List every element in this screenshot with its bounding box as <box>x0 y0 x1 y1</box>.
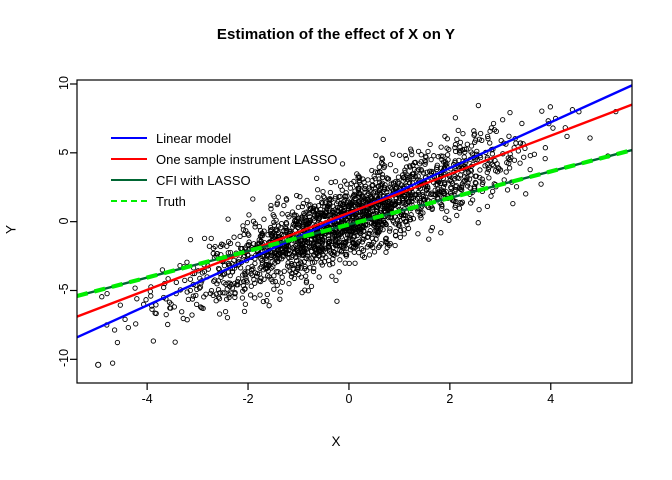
legend-line-icon <box>111 137 147 139</box>
scatter-point <box>367 253 371 257</box>
scatter-point <box>240 296 244 300</box>
scatter-point <box>280 212 284 216</box>
scatter-point <box>225 287 229 291</box>
scatter-point <box>115 340 119 344</box>
scatter-point <box>327 258 331 262</box>
scatter-point <box>548 105 552 109</box>
legend-item: CFI with LASSO <box>108 170 337 191</box>
scatter-point <box>232 235 236 239</box>
scatter-point <box>453 116 457 120</box>
scatter-point <box>543 156 547 160</box>
scatter-point <box>123 317 127 321</box>
scatter-point <box>455 213 459 217</box>
scatter-point <box>348 186 352 190</box>
scatter-point <box>588 136 592 140</box>
scatter-point <box>507 134 511 138</box>
scatter-point <box>134 322 138 326</box>
scatter-point <box>381 137 385 141</box>
scatter-point <box>317 275 321 279</box>
scatter-point <box>278 297 282 301</box>
y-axis-title: Y <box>4 200 19 260</box>
scatter-point <box>214 299 218 303</box>
scatter-point <box>505 188 509 192</box>
scatter-point <box>391 152 395 156</box>
y-tick-label: 5 <box>57 122 71 182</box>
scatter-point <box>388 162 392 166</box>
scatter-point <box>490 152 494 156</box>
scatter-point <box>353 261 357 265</box>
scatter-point <box>426 149 430 153</box>
scatter-point <box>457 206 461 210</box>
scatter-point <box>520 121 524 125</box>
scatter-point <box>539 182 543 186</box>
scatter-point <box>225 244 229 248</box>
scatter-point <box>151 339 155 343</box>
scatter-point <box>514 185 518 189</box>
scatter-point <box>458 140 462 144</box>
legend-swatch-4 <box>108 191 150 212</box>
scatter-point <box>469 144 473 148</box>
x-tick-label: -4 <box>117 392 177 406</box>
scatter-point <box>258 293 262 297</box>
scatter-point <box>372 250 376 254</box>
scatter-point <box>238 234 242 238</box>
scatter-point <box>190 313 194 317</box>
scatter-point <box>357 250 361 254</box>
scatter-point <box>445 153 449 157</box>
scatter-point <box>133 286 137 290</box>
scatter-point <box>304 274 308 278</box>
scatter-point <box>280 280 284 284</box>
scatter-point <box>508 110 512 114</box>
scatter-point <box>445 209 449 213</box>
x-tick-label: 4 <box>521 392 581 406</box>
scatter-point <box>462 155 466 159</box>
scatter-point <box>522 155 526 159</box>
legend-line-icon <box>111 200 147 202</box>
legend-item: Truth <box>108 191 337 212</box>
legend-label: Linear model <box>150 131 231 146</box>
scatter-point <box>185 318 189 322</box>
scatter-point <box>478 131 482 135</box>
scatter-point <box>253 296 257 300</box>
scatter-point <box>262 217 266 221</box>
scatter-point <box>374 153 378 157</box>
y-tick-label: 10 <box>57 53 71 113</box>
scatter-point <box>144 298 148 302</box>
scatter-point <box>490 189 494 193</box>
scatter-point <box>105 291 109 295</box>
scatter-point <box>485 204 489 208</box>
scatter-point <box>188 237 192 241</box>
legend-line-icon <box>111 179 147 181</box>
scatter-point <box>265 292 269 296</box>
scatter-point <box>511 201 515 205</box>
y-tick-label: 0 <box>57 191 71 251</box>
scatter-point <box>247 213 251 217</box>
scatter-point <box>528 167 532 171</box>
scatter-point <box>461 131 465 135</box>
scatter-point <box>478 168 482 172</box>
scatter-point <box>447 218 451 222</box>
scatter-point <box>476 220 480 224</box>
scatter-point <box>393 243 397 247</box>
scatter-point <box>183 278 187 282</box>
scatter-point <box>502 178 506 182</box>
scatter-point <box>173 340 177 344</box>
scatter-point <box>272 274 276 278</box>
scatter-point <box>300 290 304 294</box>
scatter-point <box>416 232 420 236</box>
scatter-point <box>243 302 247 306</box>
scatter-point <box>185 260 189 264</box>
scatter-point <box>242 309 246 313</box>
x-tick-label: 0 <box>319 392 379 406</box>
scatter-point <box>514 141 518 145</box>
scatter-point <box>477 207 481 211</box>
scatter-point <box>518 161 522 165</box>
scatter-point <box>524 192 528 196</box>
scatter-point <box>456 128 460 132</box>
scatter-point <box>100 295 104 299</box>
legend-label: One sample instrument LASSO <box>150 152 337 167</box>
x-tick-label: -2 <box>218 392 278 406</box>
scatter-point <box>540 109 544 113</box>
scatter-point <box>247 233 251 237</box>
x-tick-label: 2 <box>420 392 480 406</box>
scatter-point <box>278 290 282 294</box>
plot-area <box>0 0 672 480</box>
scatter-point <box>377 165 381 169</box>
scatter-point <box>499 138 503 142</box>
scatter-point <box>209 288 213 292</box>
scatter-point <box>340 162 344 166</box>
legend-item: Linear model <box>108 128 337 149</box>
scatter-point <box>202 236 206 240</box>
legend-label: CFI with LASSO <box>150 173 251 188</box>
scatter-point <box>217 312 221 316</box>
legend-swatch-1 <box>108 128 150 149</box>
scatter-point <box>532 152 536 156</box>
scatter-point <box>238 266 242 270</box>
scatter-point <box>543 145 547 149</box>
scatter-point <box>212 279 216 283</box>
scatter-point <box>337 270 341 274</box>
scatter-point <box>149 294 153 298</box>
scatter-point <box>180 310 184 314</box>
scatter-point <box>397 153 401 157</box>
scatter-point <box>330 274 334 278</box>
scatter-point <box>241 255 245 259</box>
scatter-point <box>366 178 370 182</box>
scatter-point <box>507 166 511 170</box>
scatter-point <box>565 134 569 138</box>
scatter-point <box>280 275 284 279</box>
scatter-point <box>394 169 398 173</box>
scatter-point <box>334 278 338 282</box>
scatter-point <box>309 284 313 288</box>
scatter-point <box>396 175 400 179</box>
scatter-point <box>475 149 479 153</box>
scatter-point <box>500 118 504 122</box>
scatter-point <box>267 303 271 307</box>
scatter-point <box>488 141 492 145</box>
scatter-point <box>225 315 229 319</box>
scatter-point <box>236 242 240 246</box>
scatter-point <box>275 283 279 287</box>
scatter-point <box>226 217 230 221</box>
scatter-point <box>465 142 469 146</box>
scatter-point <box>194 302 198 306</box>
scatter-point <box>439 231 443 235</box>
scatter-point <box>299 275 303 279</box>
legend-item: One sample instrument LASSO <box>108 149 337 170</box>
scatter-point <box>335 299 339 303</box>
legend-swatch-2 <box>108 149 150 170</box>
scatter-point <box>164 312 168 316</box>
scatter-point <box>209 236 213 240</box>
scatter-point <box>551 126 555 130</box>
y-tick-label: -10 <box>57 328 71 388</box>
scatter-point <box>165 322 169 326</box>
scatter-point <box>427 237 431 241</box>
scatter-point <box>110 361 114 365</box>
x-axis-title: X <box>0 434 672 449</box>
scatter-point <box>223 309 227 313</box>
scatter-point <box>253 261 257 265</box>
scatter-point-outlier <box>96 362 101 367</box>
scatter-point <box>248 293 252 297</box>
chart-legend: Linear modelOne sample instrument LASSOC… <box>108 128 337 212</box>
scatter-point <box>489 194 493 198</box>
scatter-point <box>287 281 291 285</box>
scatter-point <box>439 145 443 149</box>
scatter-point <box>485 170 489 174</box>
chart-canvas: Estimation of the effect of X on Y -4-20… <box>0 0 672 480</box>
scatter-point <box>384 250 388 254</box>
scatter-point <box>112 328 116 332</box>
scatter-point <box>429 157 433 161</box>
scatter-point <box>135 297 139 301</box>
legend-line-icon <box>111 158 147 160</box>
scatter-point <box>338 258 342 262</box>
scatter-point <box>419 152 423 156</box>
scatter-point <box>126 325 130 329</box>
scatter-point <box>245 220 249 224</box>
scatter-point <box>174 280 178 284</box>
scatter-point <box>504 170 508 174</box>
scatter-point <box>476 103 480 107</box>
scatter-point <box>118 303 122 307</box>
legend-label: Truth <box>150 194 186 209</box>
scatter-point <box>491 121 495 125</box>
scatter-point <box>272 287 276 291</box>
scatter-point <box>338 184 342 188</box>
scatter-point <box>188 277 192 281</box>
legend-swatch-3 <box>108 170 150 191</box>
scatter-point <box>398 235 402 239</box>
scatter-point <box>487 176 491 180</box>
y-tick-label: -5 <box>57 259 71 319</box>
scatter-point <box>428 142 432 146</box>
